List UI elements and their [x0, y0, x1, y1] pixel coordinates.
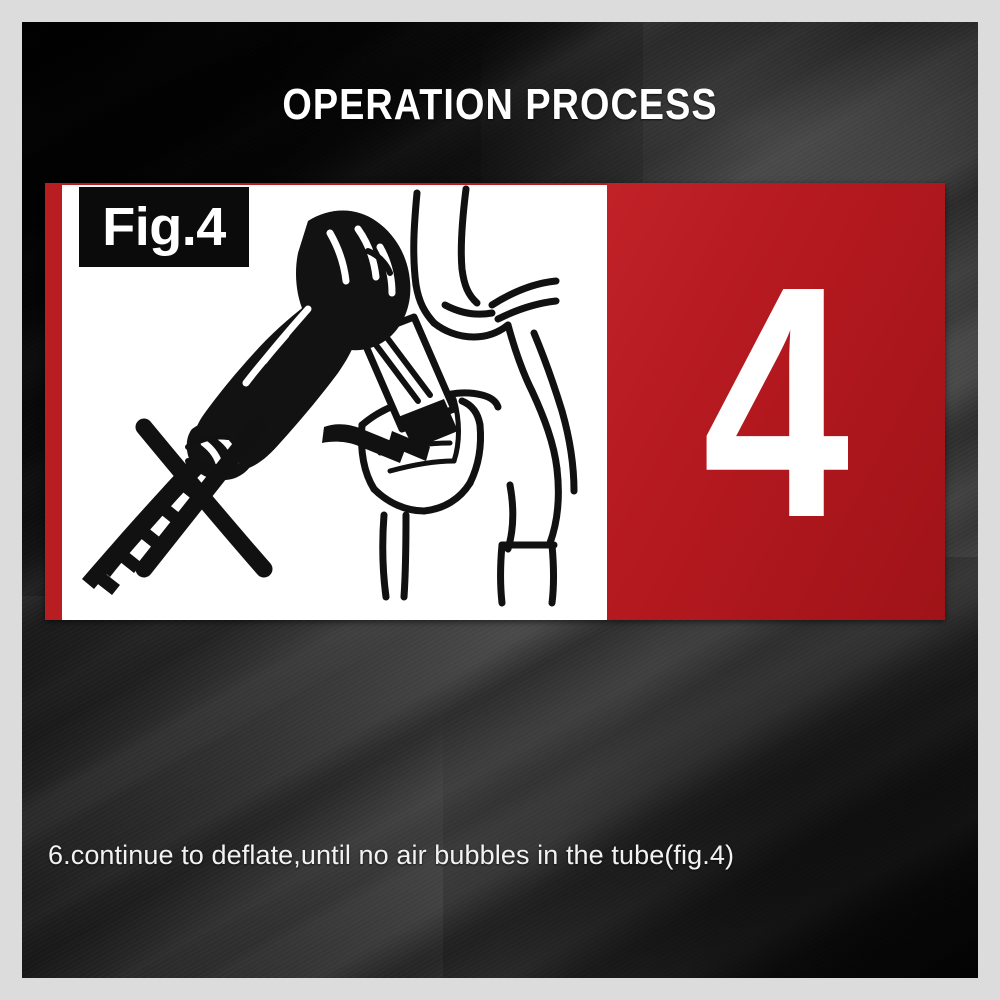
figure-label-badge: Fig.4	[79, 187, 249, 267]
step-number-panel: 4	[607, 183, 945, 620]
step-caption: 6.continue to deflate,until no air bubbl…	[48, 840, 734, 871]
illustration-panel: Fig.4	[45, 183, 607, 620]
figure-block: Fig.4 4	[45, 183, 945, 620]
poster-page: OPERATION PROCESS	[0, 0, 1000, 1000]
background-corner-shadow-bottomright	[443, 557, 978, 978]
content-panel: OPERATION PROCESS	[22, 22, 978, 978]
page-title: OPERATION PROCESS	[89, 80, 911, 130]
illustration-canvas: Fig.4	[62, 185, 607, 620]
step-number: 4	[641, 252, 911, 552]
